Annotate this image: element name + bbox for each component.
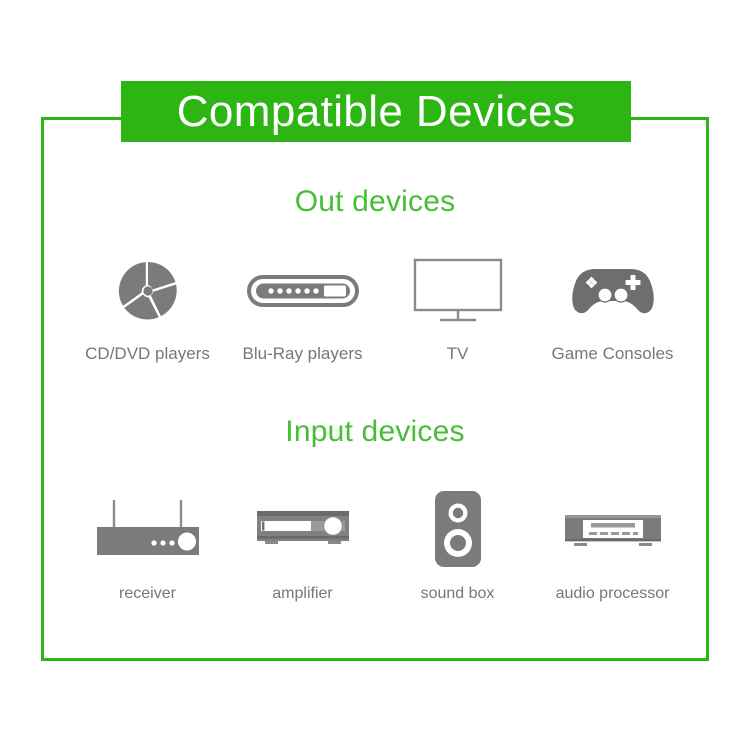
amplifier-icon xyxy=(253,483,353,575)
device-game-consoles: Game Consoles xyxy=(535,248,690,364)
device-sound-box: sound box xyxy=(380,483,535,603)
tv-monitor-icon xyxy=(413,248,503,334)
device-label: TV xyxy=(447,344,469,364)
section-heading-input-devices: Input devices xyxy=(0,415,750,449)
device-label: sound box xyxy=(421,585,495,603)
title-banner: Compatible Devices xyxy=(121,81,631,142)
device-label: Blu-Ray players xyxy=(243,344,363,364)
device-label: receiver xyxy=(119,585,176,603)
speaker-icon xyxy=(431,483,485,575)
gamepad-icon xyxy=(570,248,656,334)
compatible-devices-infographic: Compatible Devices Out devices CD/DVD pl… xyxy=(0,0,750,750)
audio-processor-icon xyxy=(561,483,665,575)
device-label: audio processor xyxy=(556,585,670,603)
device-label: Game Consoles xyxy=(552,344,674,364)
input-devices-row: receiver amplifier xyxy=(70,483,690,603)
device-receiver: receiver xyxy=(70,483,225,603)
page-title: Compatible Devices xyxy=(177,90,575,134)
device-label: CD/DVD players xyxy=(85,344,210,364)
device-amplifier: amplifier xyxy=(225,483,380,603)
section-heading-out-devices: Out devices xyxy=(0,185,750,219)
device-cd-dvd-players: CD/DVD players xyxy=(70,248,225,364)
device-label: amplifier xyxy=(272,585,332,603)
device-audio-processor: audio processor xyxy=(535,483,690,603)
av-receiver-icon xyxy=(92,483,204,575)
out-devices-row: CD/DVD players xyxy=(70,248,690,364)
blu-ray-player-icon xyxy=(247,248,359,334)
device-blu-ray-players: Blu-Ray players xyxy=(225,248,380,364)
device-tv: TV xyxy=(380,248,535,364)
cd-dvd-disc-icon xyxy=(117,248,179,334)
